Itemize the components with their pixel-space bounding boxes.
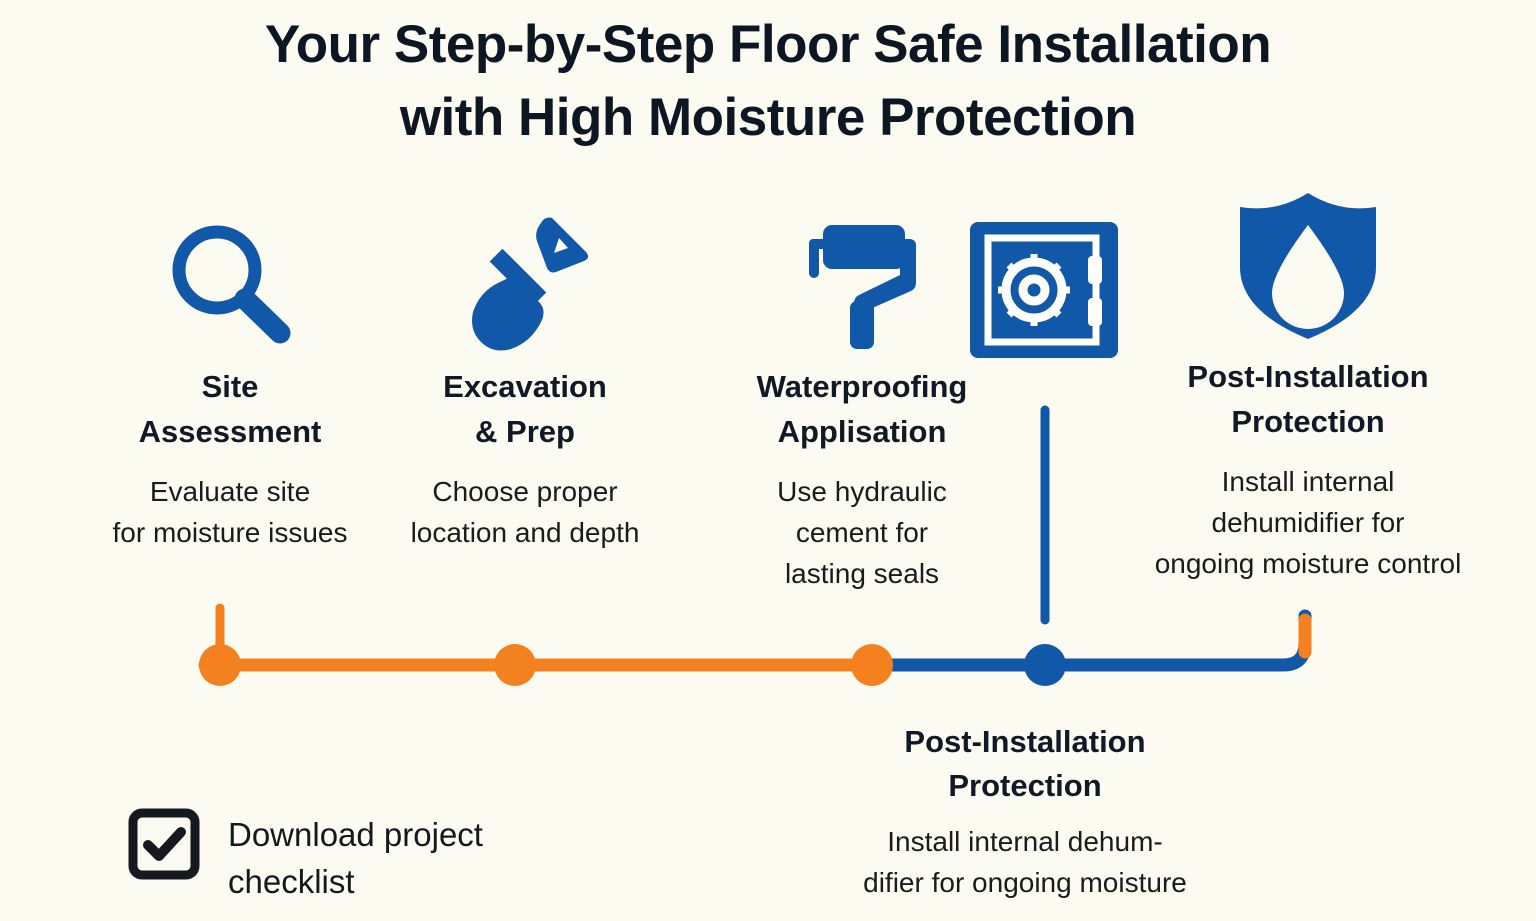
bottom-caption-title: Post-Installation Protection: [790, 720, 1260, 808]
timeline-dot-2[interactable]: [494, 644, 536, 686]
download-checklist-label: Download project checklist: [228, 808, 483, 906]
timeline-dot-4[interactable]: [1024, 644, 1066, 686]
bottom-caption: Post-Installation Protection Install int…: [790, 720, 1260, 904]
timeline-dot-1[interactable]: [199, 644, 241, 686]
timeline: [0, 380, 1536, 700]
timeline-track-blue: [868, 616, 1305, 665]
checkbox-checked-icon[interactable]: [128, 808, 200, 885]
bottom-caption-description: Install internal dehum- difier for ongoi…: [790, 821, 1260, 904]
timeline-dot-3[interactable]: [851, 644, 893, 686]
shield-droplet-icon: [1080, 195, 1536, 345]
shovel-icon: [380, 205, 670, 355]
page-title: Your Step-by-Step Floor Safe Installatio…: [0, 8, 1536, 154]
magnifier-icon: [60, 205, 400, 355]
infographic-canvas: Your Step-by-Step Floor Safe Installatio…: [0, 0, 1536, 921]
paint-roller-icon: [722, 205, 1002, 355]
download-checklist-button[interactable]: Download project checklist: [128, 808, 483, 906]
